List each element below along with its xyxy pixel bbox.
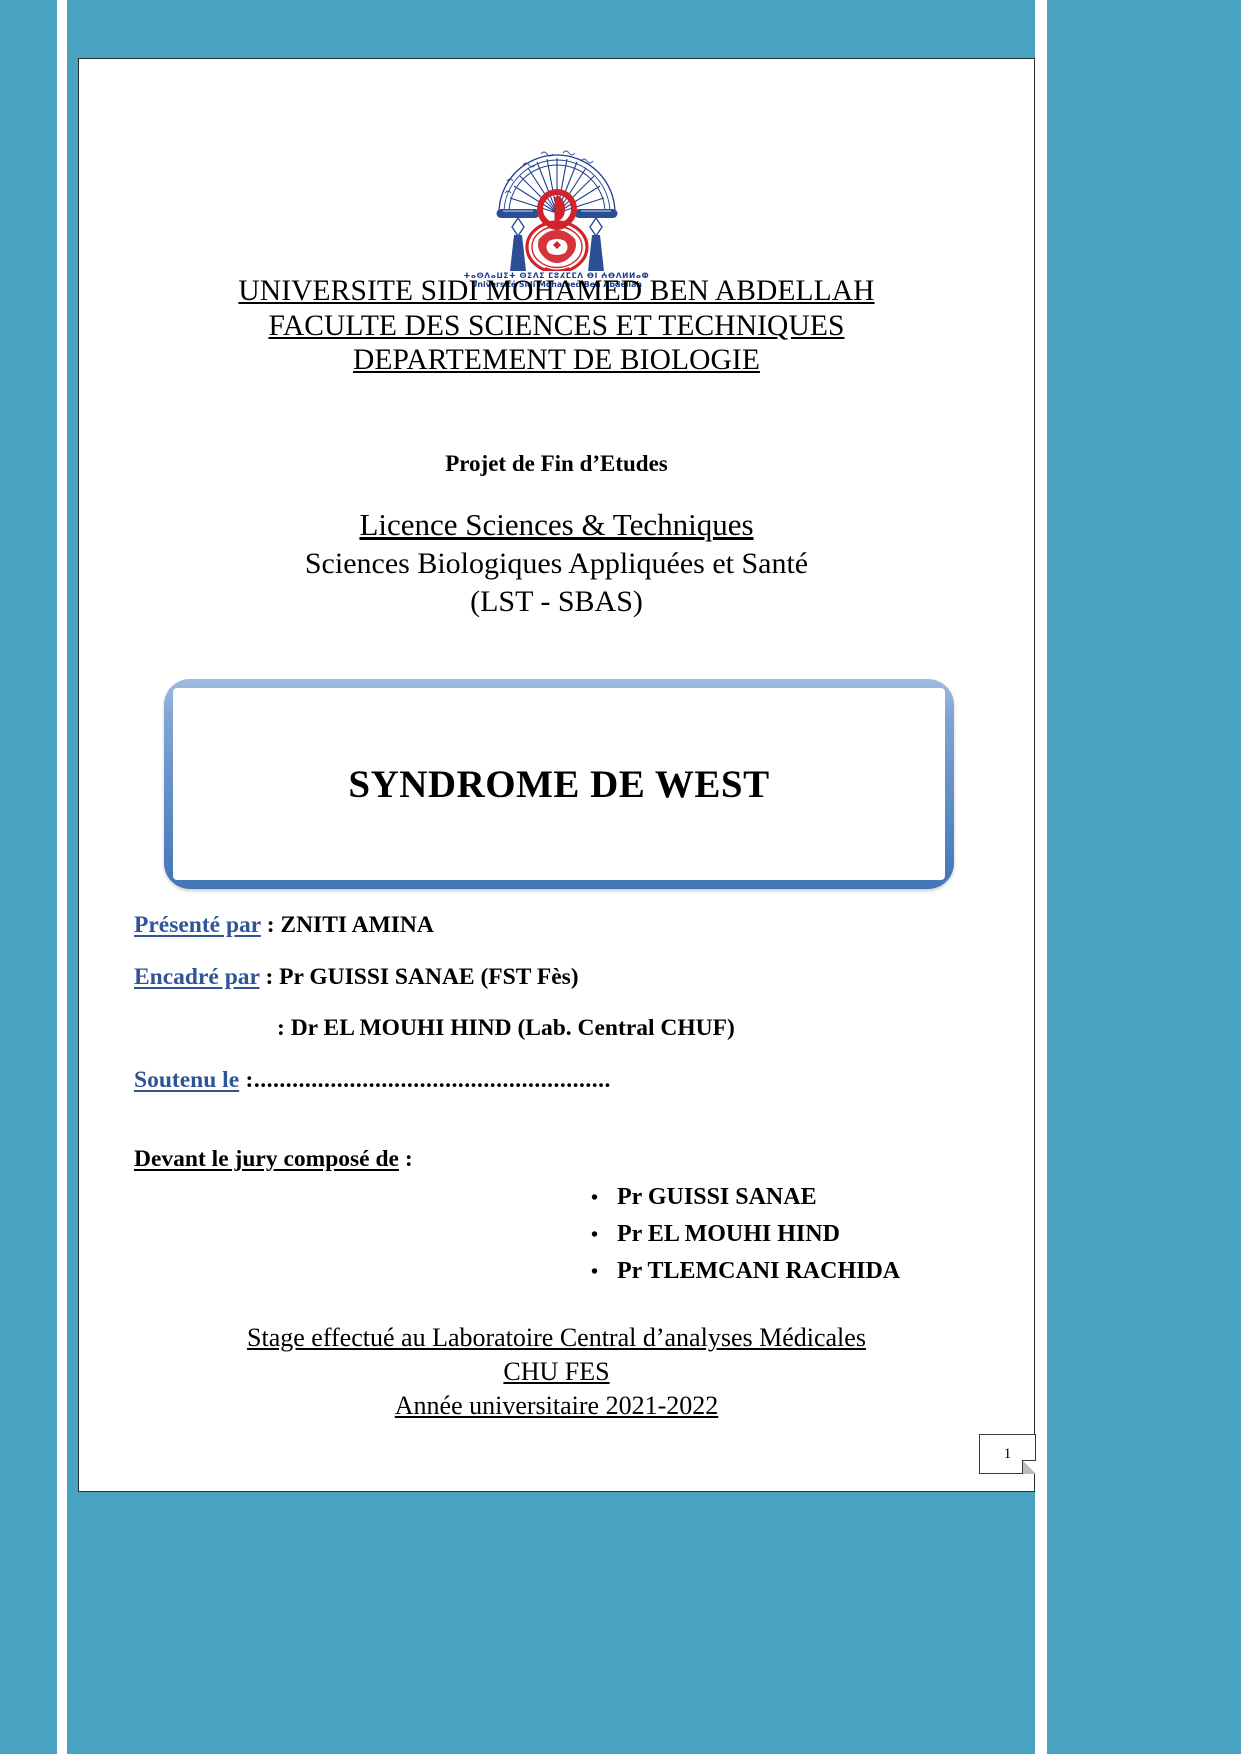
document-sheet: ⵜⴰⵙⴷⴰⵡⵉⵜ ⵙⵉⴷⵉ ⵎⵓⵃⵎⵎⴷ ⴱⵏ ⵄⴱⴷⵍⵍⴰⵀ Universi… <box>78 58 1035 1492</box>
jury-heading-label: Devant le jury composé de <box>134 1146 399 1172</box>
list-item: • Pr TLEMCANI RACHIDA <box>591 1253 900 1290</box>
footer-line-academic-year: Année universitaire 2021-2022 <box>79 1389 1034 1423</box>
presented-by-row: Présenté par : ZNITI AMINA <box>134 914 994 938</box>
page-border-right-gap <box>1035 0 1047 1754</box>
presented-by-label: Présenté par <box>134 912 261 938</box>
supervised-by-row: Encadré par : Pr GUISSI SANAE (FST Fès) <box>134 966 994 990</box>
degree-line-2: Sciences Biologiques Appliquées et Santé <box>79 545 1034 583</box>
university-logo: ⵜⴰⵙⴷⴰⵡⵉⵜ ⵙⵉⴷⵉ ⵎⵓⵃⵎⵎⴷ ⴱⵏ ⵄⴱⴷⵍⵍⴰⵀ Universi… <box>79 121 1034 289</box>
footer-line-hospital: CHU FES <box>79 1355 1034 1389</box>
university-crest-icon <box>483 121 631 271</box>
jury-heading-suffix: : <box>399 1146 413 1172</box>
bullet-icon: • <box>591 1188 617 1208</box>
meta-block: Présenté par : ZNITI AMINA Encadré par :… <box>134 914 994 1120</box>
page-number-badge: 1 <box>979 1434 1036 1474</box>
document-page: ⵜⴰⵙⴷⴰⵡⵉⵜ ⵙⵉⴷⵉ ⵎⵓⵃⵎⵎⴷ ⴱⵏ ⵄⴱⴷⵍⵍⴰⵀ Universi… <box>0 0 1241 1754</box>
jury-heading: Devant le jury composé de : <box>134 1146 413 1173</box>
jury-member-list: • Pr GUISSI SANAE • Pr EL MOUHI HIND • P… <box>591 1179 900 1291</box>
supervised-by-label: Encadré par <box>134 964 260 990</box>
jury-member-name: Pr EL MOUHI HIND <box>617 1216 840 1253</box>
defended-on-row: Soutenu le :............................… <box>134 1069 994 1093</box>
list-item: • Pr EL MOUHI HIND <box>591 1216 900 1253</box>
degree-block: Licence Sciences & Techniques Sciences B… <box>79 505 1034 621</box>
heading-line-department: DEPARTEMENT DE BIOLOGIE <box>79 343 1034 378</box>
heading-line-faculty: FACULTE DES SCIENCES ET TECHNIQUES <box>79 309 1034 344</box>
defended-on-label: Soutenu le <box>134 1067 239 1093</box>
jury-member-name: Pr GUISSI SANAE <box>617 1179 817 1216</box>
page-number: 1 <box>1004 1446 1012 1463</box>
border-gap-bottom-left <box>57 1492 67 1754</box>
degree-line-1: Licence Sciences & Techniques <box>79 505 1034 545</box>
page-border-left-inner <box>67 0 78 1754</box>
thesis-title: SYNDROME DE WEST <box>348 762 769 807</box>
supervised-by-value: : Pr GUISSI SANAE (FST Fès) <box>260 964 579 990</box>
degree-line-3: (LST - SBAS) <box>79 583 1034 621</box>
defended-on-value: :.......................................… <box>239 1067 611 1093</box>
page-border-left <box>0 0 57 1754</box>
internship-footer: Stage effectué au Laboratoire Central d’… <box>79 1321 1034 1422</box>
bullet-icon: • <box>591 1225 617 1245</box>
page-border-right <box>1047 0 1241 1754</box>
supervised-by-value-2: : Dr EL MOUHI HIND (Lab. Central CHUF) <box>277 1015 735 1041</box>
thesis-title-box: SYNDROME DE WEST <box>164 679 954 889</box>
thesis-title-box-inner: SYNDROME DE WEST <box>173 688 945 880</box>
page-border-top <box>0 0 1241 58</box>
presented-by-value: : ZNITI AMINA <box>261 912 434 938</box>
bullet-icon: • <box>591 1262 617 1282</box>
page-border-bottom <box>0 1492 1241 1754</box>
footer-line-internship: Stage effectué au Laboratoire Central d’… <box>79 1321 1034 1355</box>
jury-member-name: Pr TLEMCANI RACHIDA <box>617 1253 900 1290</box>
heading-line-university: UNIVERSITE SIDI MOHAMED BEN ABDELLAH <box>79 274 1034 309</box>
border-gap-top-left <box>57 0 67 58</box>
page-fold-corner-icon <box>1022 1460 1036 1474</box>
list-item: • Pr GUISSI SANAE <box>591 1179 900 1216</box>
project-kind: Projet de Fin d’Etudes <box>79 451 1034 477</box>
supervised-by-row-2: : Dr EL MOUHI HIND (Lab. Central CHUF) <box>134 1017 994 1041</box>
university-heading: UNIVERSITE SIDI MOHAMED BEN ABDELLAH FAC… <box>79 274 1034 378</box>
